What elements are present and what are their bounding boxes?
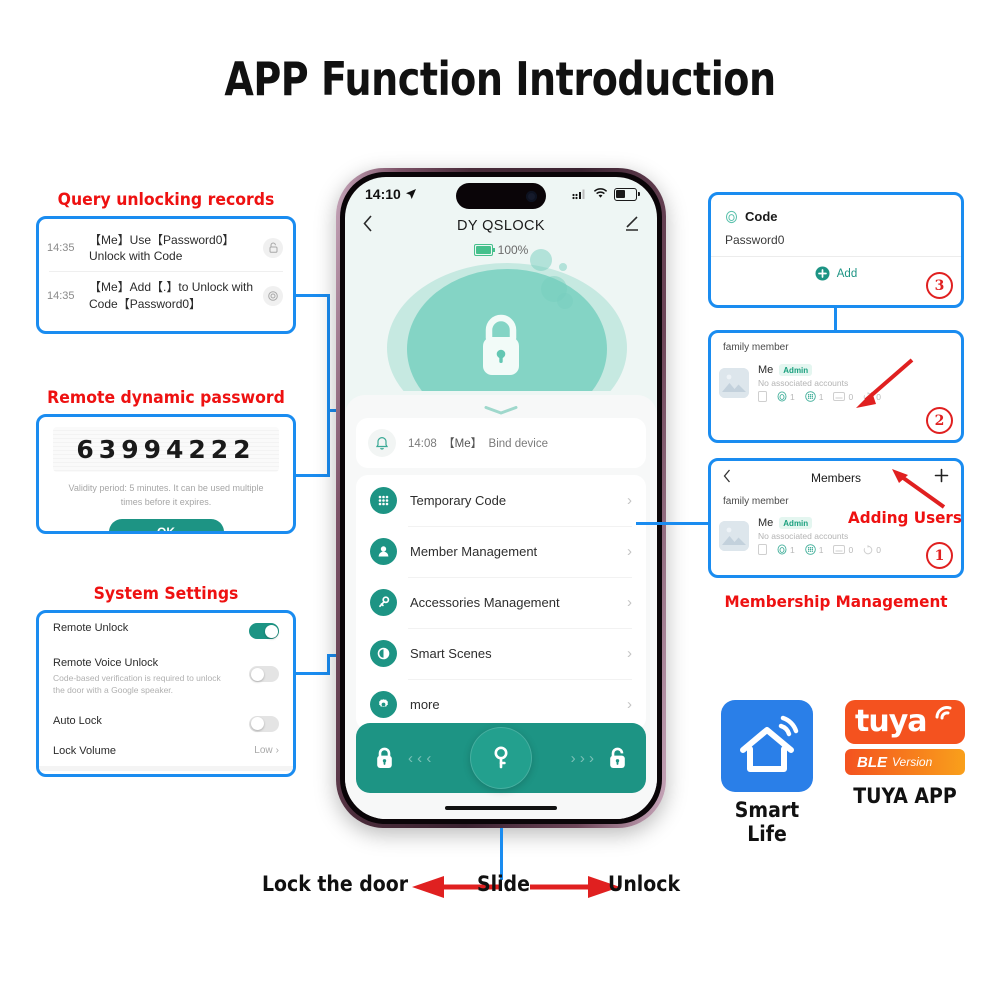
dynamic-password-value: 63994222 xyxy=(53,435,279,464)
left-arrows: ‹ ‹ ‹ xyxy=(408,750,431,767)
dynamic-island xyxy=(456,183,546,209)
connector-member-management xyxy=(636,522,711,525)
connector-system-settings xyxy=(327,654,330,675)
ble-label: BLE xyxy=(857,754,887,771)
front-camera-icon xyxy=(526,191,537,202)
step-number-2: 2 xyxy=(926,407,953,434)
nav-bar: DY QSLOCK xyxy=(345,211,657,241)
menu-item-accessories-management[interactable]: Accessories Management › xyxy=(356,577,646,628)
connector-code-panel xyxy=(834,308,837,330)
person-icon xyxy=(370,538,397,565)
chevron-right-icon: › xyxy=(627,696,632,713)
setting-lock-volume[interactable]: Lock Volume Low › xyxy=(39,741,293,766)
edit-button[interactable] xyxy=(623,216,639,237)
tuya-logo: tuya BLE Version xyxy=(845,700,965,775)
plus-circle-icon xyxy=(815,266,830,281)
keypad-count: 1 xyxy=(805,544,824,555)
menu-item-temporary-code[interactable]: Temporary Code › xyxy=(356,475,646,526)
menu-item-label: more xyxy=(410,697,440,712)
dynamic-password-card: 63994222 Validity period: 5 minutes. It … xyxy=(36,414,296,534)
fingerprint-icon xyxy=(777,544,787,555)
decor-blob xyxy=(559,263,567,271)
key-icon xyxy=(490,745,512,771)
ok-button[interactable]: OK xyxy=(109,519,224,534)
slider-knob[interactable] xyxy=(470,727,532,789)
page-title: APP Function Introduction xyxy=(40,52,960,106)
add-label: Add xyxy=(837,268,857,280)
connector-dynamic-password xyxy=(296,474,330,477)
menu-item-label: Temporary Code xyxy=(410,493,506,508)
chevron-right-icon: › xyxy=(627,594,632,611)
fingerprint-count: 1 xyxy=(777,544,795,555)
step-number-1: 1 xyxy=(926,542,953,569)
fingerprint-icon xyxy=(725,210,738,224)
fingerprint-icon xyxy=(777,391,787,402)
lock-hero: 100% xyxy=(345,241,657,391)
setting-lock-language[interactable]: Lock Language Simplified Chinese › xyxy=(39,771,293,777)
set-password-arrow-icon xyxy=(850,356,920,411)
setting-remote-unlock[interactable]: Remote Unlock xyxy=(39,613,293,648)
caption-system-settings: System Settings xyxy=(43,584,290,603)
decor-blob xyxy=(530,249,552,271)
gear-icon xyxy=(370,691,397,718)
remote-unlock-toggle[interactable] xyxy=(249,623,279,639)
add-code-button[interactable]: Add xyxy=(711,257,961,290)
decor-blob xyxy=(557,293,573,309)
validity-note: Validity period: 5 minutes. It can be us… xyxy=(57,482,275,509)
signal-icon xyxy=(572,189,587,200)
phone-mockup: 14:10 D xyxy=(336,168,666,828)
keypad-icon xyxy=(805,544,816,555)
role-badge: Admin xyxy=(779,364,812,376)
keypad-icon xyxy=(805,391,816,402)
keypad-count: 1 xyxy=(805,391,824,402)
record-time: 14:35 xyxy=(47,242,85,254)
menu-item-smart-scenes[interactable]: Smart Scenes › xyxy=(356,628,646,679)
step-number-3: 3 xyxy=(926,272,953,299)
menu-item-label: Smart Scenes xyxy=(410,646,492,661)
content-sheet: 14:08 【Me】 Bind device xyxy=(345,395,657,819)
page-heading: DY QSLOCK xyxy=(345,218,657,234)
connector-records xyxy=(327,294,330,412)
tuya-logo-block: tuya BLE Version TUYA APP xyxy=(840,700,970,808)
code-icon xyxy=(833,392,845,401)
slide-label: Slide xyxy=(477,872,530,896)
connector-system-settings xyxy=(296,672,330,675)
avatar xyxy=(719,368,749,398)
right-arrows: › › › xyxy=(571,750,594,767)
add-user-button[interactable] xyxy=(934,468,949,488)
sheet-handle-icon[interactable] xyxy=(484,402,518,411)
log-who: 【Me】 xyxy=(443,438,482,450)
password-display: 63994222 xyxy=(53,427,279,472)
feature-menu: Temporary Code › Member Management › Acc… xyxy=(356,475,646,730)
padlock-icon xyxy=(474,311,528,382)
plus-icon xyxy=(934,468,949,483)
connector-dynamic-password xyxy=(327,412,330,477)
card-icon xyxy=(758,544,767,555)
fingerprint-count: 1 xyxy=(777,391,795,402)
code-panel: Code Password0 Add 3 xyxy=(708,192,964,308)
smart-life-logo xyxy=(721,700,813,792)
code-item[interactable]: Password0 xyxy=(711,224,961,257)
caption-adding-users: Adding Users xyxy=(848,508,962,527)
chevron-right-icon: › xyxy=(276,745,279,756)
member-row[interactable]: Me Admin No associated accounts 1 1 0 0 xyxy=(711,358,961,408)
keypad-icon xyxy=(370,487,397,514)
connector-records xyxy=(296,294,330,297)
family-member-panel: family member Me Admin No associated acc… xyxy=(708,330,964,443)
code-panel-title: Code xyxy=(745,209,778,224)
code-icon xyxy=(833,545,845,554)
auto-lock-toggle[interactable] xyxy=(249,716,279,732)
smart-life-logo-block: Smart Life xyxy=(718,700,816,846)
setting-label: Auto Lock xyxy=(53,715,249,727)
card-icon xyxy=(758,391,767,402)
log-time: 14:08 xyxy=(408,438,437,450)
wifi-icon xyxy=(593,188,608,200)
member-sub: No associated accounts xyxy=(758,531,953,541)
log-action: Bind device xyxy=(489,438,548,450)
menu-item-label: Member Management xyxy=(410,544,537,559)
menu-item-label: Accessories Management xyxy=(410,595,560,610)
remote-icon xyxy=(863,545,873,555)
setting-label: Remote Voice Unlock xyxy=(53,657,249,669)
chevron-right-icon: › xyxy=(627,543,632,560)
remote-count: 0 xyxy=(863,545,881,555)
chevron-right-icon: › xyxy=(627,492,632,509)
caption-query-records: Query unlocking records xyxy=(43,190,290,209)
wifi-icon xyxy=(934,704,956,722)
location-arrow-icon xyxy=(405,188,417,200)
role-badge: Admin xyxy=(779,517,812,529)
recent-log-card[interactable]: 14:08 【Me】 Bind device xyxy=(356,418,646,468)
member-name: Me xyxy=(758,364,773,376)
record-row[interactable]: 14:35 【Me】Use【Password0】Unlock with Code xyxy=(39,225,293,271)
version-label: Version xyxy=(892,755,932,769)
battery-icon xyxy=(474,244,493,256)
lock-volume-value: Low xyxy=(254,745,272,756)
status-time-label: 14:10 xyxy=(365,186,401,202)
locked-padlock-icon xyxy=(374,747,395,770)
setting-auto-lock[interactable]: Auto Lock xyxy=(39,706,293,741)
setting-label: Lock Volume xyxy=(53,745,254,757)
lock-the-door-label: Lock the door xyxy=(262,872,408,896)
bell-icon xyxy=(368,429,396,457)
unlock-icon xyxy=(263,238,283,258)
menu-item-member-management[interactable]: Member Management › xyxy=(356,526,646,577)
avatar xyxy=(719,521,749,551)
status-bar: 14:10 xyxy=(345,177,657,211)
battery-percent: 100% xyxy=(498,243,529,257)
group-label: family member xyxy=(711,333,961,358)
record-text: 【Me】Use【Password0】Unlock with Code xyxy=(85,232,263,264)
tuya-app-label: TUYA APP xyxy=(840,784,970,808)
setting-remote-voice-unlock[interactable]: Remote Voice Unlock Code-based verificat… xyxy=(39,648,293,706)
scene-icon xyxy=(370,640,397,667)
member-counts: 1 1 0 0 xyxy=(758,544,953,555)
status-indicators xyxy=(572,188,637,201)
member-name: Me xyxy=(758,517,773,529)
unlocked-padlock-icon xyxy=(607,747,628,770)
chevron-right-icon: › xyxy=(627,645,632,662)
key-icon xyxy=(370,589,397,616)
device-battery: 100% xyxy=(345,241,657,257)
record-row[interactable]: 14:35 【Me】Add【.】to Unlock with Code【Pass… xyxy=(39,272,293,318)
smart-life-label: Smart Life xyxy=(718,798,816,846)
back-button[interactable] xyxy=(363,215,373,237)
unlock-label: Unlock xyxy=(608,872,680,896)
lock-slider[interactable]: ‹ ‹ ‹ › › › xyxy=(356,723,646,793)
remote-voice-unlock-toggle[interactable] xyxy=(249,666,279,682)
fingerprint-icon xyxy=(263,286,283,306)
setting-sublabel: Code-based verification is required to u… xyxy=(53,672,223,697)
caption-remote-dynamic-password: Remote dynamic password xyxy=(43,388,290,407)
caption-membership-management: Membership Management xyxy=(714,592,957,611)
setting-label: Remote Unlock xyxy=(53,622,249,634)
code-count: 0 xyxy=(833,545,853,555)
home-indicator xyxy=(445,806,557,810)
phone-screen: 14:10 D xyxy=(345,177,657,819)
record-time: 14:35 xyxy=(47,290,85,302)
battery-icon xyxy=(614,188,637,201)
log-entry: 14:08 【Me】 Bind device xyxy=(408,435,548,451)
setting-value: Low › xyxy=(254,745,279,756)
status-time: 14:10 xyxy=(365,186,417,202)
record-text: 【Me】Add【.】to Unlock with Code【Password0】 xyxy=(85,279,263,311)
query-records-card: 14:35 【Me】Use【Password0】Unlock with Code… xyxy=(36,216,296,334)
system-settings-card: Remote Unlock Remote Voice Unlock Code-b… xyxy=(36,610,296,777)
